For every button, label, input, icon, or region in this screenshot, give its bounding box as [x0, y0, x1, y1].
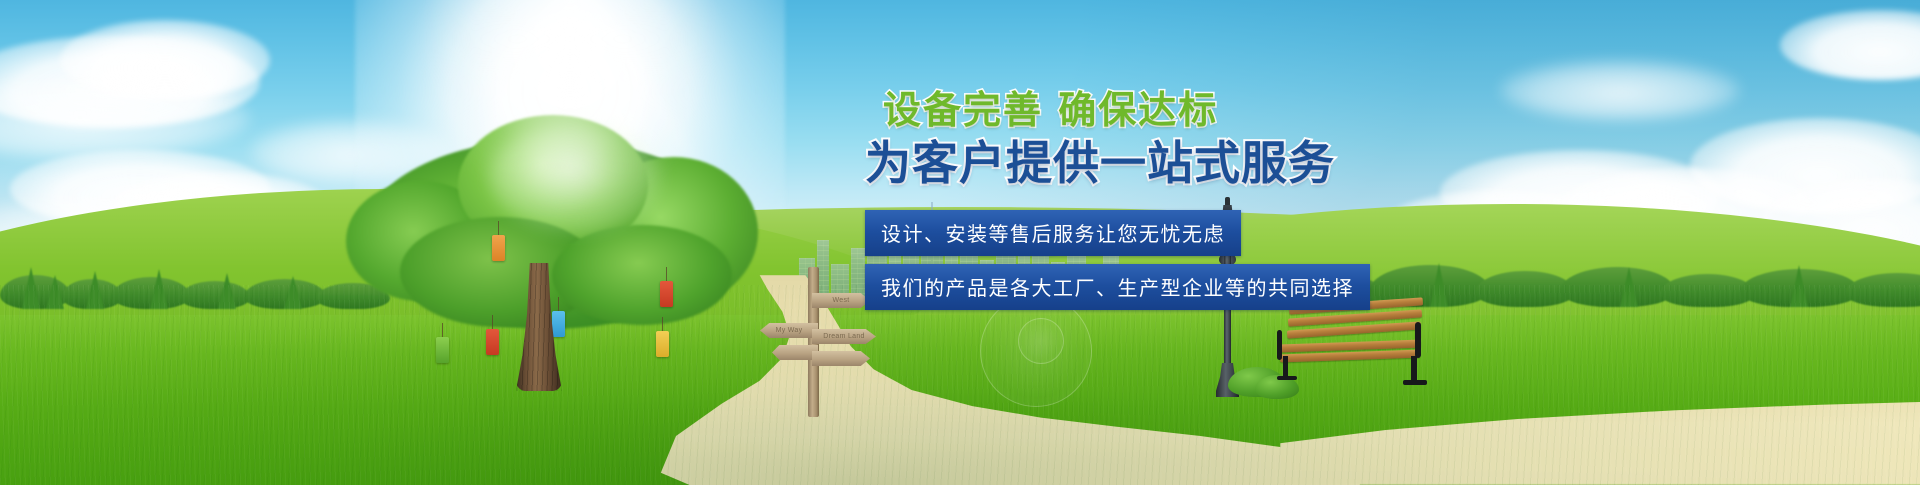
lens-flare-small [1018, 318, 1064, 364]
signpost-arm-blank-right [812, 351, 870, 366]
headline-green: 设备完善 确保达标 [883, 88, 1485, 133]
grass-shadow [0, 285, 1920, 485]
signpost-label-myway: My Way [760, 323, 818, 338]
tree-tag-red-1 [486, 329, 499, 355]
tree-tag-yellow [656, 331, 669, 357]
banner-copy: 设备完善 确保达标 为客户提供一站式服务 设计、安装等售后服务让您无忧无虑 我们… [865, 88, 1485, 310]
park-bench [1275, 300, 1435, 385]
tree-tag-red-2 [660, 281, 673, 307]
signpost-label-west: West [812, 293, 870, 308]
signpost-arm-myway: My Way [760, 323, 818, 338]
subtitle-bar-2: 我们的产品是各大工厂、生产型企业等的共同选择 [865, 264, 1370, 310]
tree-tag-green [436, 337, 449, 363]
bench-leg-right-foot [1403, 380, 1427, 385]
bench-arm-left [1277, 330, 1282, 360]
wooden-signpost: West My Way Dream Land [760, 267, 880, 417]
tree-tag-blue [552, 311, 565, 337]
subbar-row-1: 设计、安装等售后服务让您无忧无虑 [865, 210, 1485, 256]
signpost-label-dreamland: Dream Land [812, 329, 876, 344]
signpost-arm-dreamland: Dream Land [812, 329, 876, 344]
headline-blue: 为客户提供一站式服务 [865, 137, 1485, 190]
subtitle-bar-1: 设计、安装等售后服务让您无忧无虑 [865, 210, 1241, 256]
bench-arm-right [1415, 322, 1421, 358]
sun-beam [420, 0, 720, 270]
signpost-arm-blank-left [772, 345, 818, 360]
cloud-right-9 [1500, 60, 1740, 120]
bench-leg-left-foot [1277, 376, 1297, 380]
signpost-arm-west: West [812, 293, 870, 308]
subbar-row-2: 我们的产品是各大工厂、生产型企业等的共同选择 [865, 264, 1485, 310]
hero-banner: West My Way Dream Land [0, 0, 1920, 485]
signpost-label-blank [812, 351, 870, 366]
